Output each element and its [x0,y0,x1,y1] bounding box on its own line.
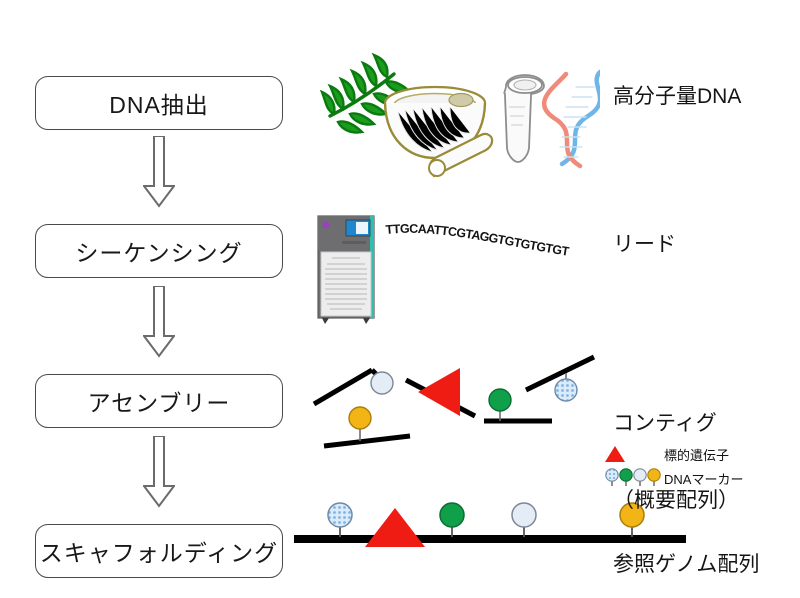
flow-step-label: スキャフォルディング [40,534,278,568]
output-label-contig-line2: （概要配列） [613,488,739,514]
target-gene-triangle-icon [418,368,460,416]
output-label-contig-line1: コンティグ [613,411,739,437]
flow-step-assembly[interactable]: アセンブリー [35,374,283,428]
flow-step-label: シーケンシング [75,234,242,268]
flow-step-label: DNA抽出 [109,86,209,120]
sequencer-machine-icon [318,216,374,324]
output-label-contig: コンティグ （概要配列） [613,360,739,565]
microcentrifuge-tube-icon [504,75,544,162]
contig-segment [484,389,552,421]
dna-marker-icon [512,503,536,527]
assembly-contigs-illustration [310,348,610,466]
flow-step-scaffolding[interactable]: スキャフォルディング [35,524,283,578]
dna-marker-icon [440,503,464,527]
output-label-read: リード [613,232,676,258]
target-gene-triangle-icon [365,508,425,547]
sequencing-illustration: TTGCAATTCGTAGGTGTGTGTGTGTGGAGTCTCTAGGTAG [312,212,597,330]
output-label-reference-genome: 参照ゲノム配列 [613,552,759,578]
flow-arrow-down-icon [143,436,175,508]
flow-arrow-down-icon [143,136,175,208]
flow-arrow-down-icon [143,286,175,358]
contig-segment [526,357,594,401]
output-label-hmw-dna: 高分子量DNA [613,84,741,110]
dna-marker-icon [328,503,352,527]
flow-step-sequencing[interactable]: シーケンシング [35,224,283,278]
contig-segment-with-target [406,368,475,416]
flow-step-label: アセンブリー [88,384,231,418]
contig-segment [324,407,410,446]
flow-step-dna-extraction[interactable]: DNA抽出 [35,76,283,130]
dna-extraction-illustration [310,44,600,189]
figure-canvas: DNA抽出 シーケンシング アセンブリー スキャフォルディング [0,0,800,598]
dna-helix-icon [544,72,600,166]
contig-segment [314,370,393,404]
